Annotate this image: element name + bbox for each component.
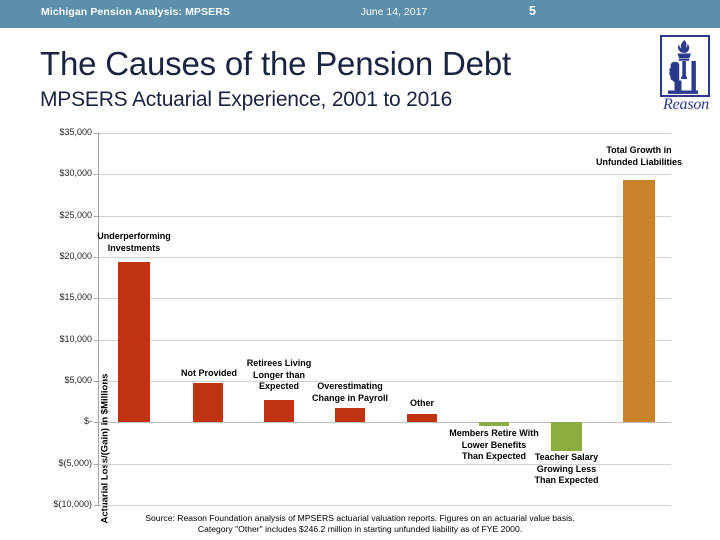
bar-label-line: Overestimating [294,381,406,393]
gridline [99,340,671,341]
y-axis-tick-label: $10,000 [32,334,92,344]
y-axis-tick-label: $(5,000) [32,458,92,468]
bar-teacher-salary-growing-less [551,422,582,451]
y-axis-tick [94,257,99,258]
bar-not-provided [193,383,223,422]
bar-label-other: Other [382,398,462,410]
y-axis-tick-label: $(10,000) [32,499,92,509]
y-axis-labels: $35,000$30,000$25,000$20,000$15,000$10,0… [30,133,92,505]
y-axis-tick [94,133,99,134]
y-axis-tick [94,174,99,175]
y-axis-tick-label: $25,000 [32,210,92,220]
bar-label-line: Other [382,398,462,410]
bar-total-growth-unfunded-liabilities [623,180,655,422]
page-subtitle: MPSERS Actuarial Experience, 2001 to 201… [40,88,452,112]
header-page-number: 5 [529,4,536,18]
source-line-2: Category "Other" includes $246.2 million… [0,524,720,535]
y-axis-tick [94,505,99,506]
reason-wordmark: Reason [658,96,714,114]
bar-label-line: Than Expected [519,475,614,487]
y-axis-tick [94,340,99,341]
bar-underperforming-investments [118,262,150,422]
y-axis-tick [94,422,99,423]
bar-label-line: Lower Benefits [433,440,555,452]
bar-label-line: Underperforming [79,231,189,243]
bar-retirees-living-longer [264,400,294,422]
y-axis-tick [94,216,99,217]
bar-other [407,414,437,422]
page-title: The Causes of the Pension Debt [40,45,511,83]
gridline [99,505,671,506]
bar-label-line: Growing Less [519,464,614,476]
y-axis-tick-label: $- [32,416,92,426]
y-axis-tick [94,381,99,382]
bar-label-teacher-salary-growing-less: Teacher SalaryGrowing LessThan Expected [519,452,614,487]
bar-overestimating-change-in-payroll [335,408,365,422]
bar-label-underperforming-investments: UnderperformingInvestments [79,231,189,254]
y-axis-tick-label: $30,000 [32,168,92,178]
bar-label-line: Members Retire With [433,428,555,440]
gridline [99,133,671,134]
bar-label-line: Retirees Living [233,358,325,370]
bar-label-line: Investments [79,243,189,255]
bar-label-line: Unfunded Liabilities [578,157,700,169]
source-footnote: Source: Reason Foundation analysis of MP… [0,513,720,535]
slide-header-bar: Michigan Pension Analysis: MPSERS June 1… [0,0,720,28]
bar-label-total-growth-unfunded-liabilities: Total Growth inUnfunded Liabilities [578,145,700,168]
y-axis-tick-label: $5,000 [32,375,92,385]
gridline [99,174,671,175]
gridline [99,216,671,217]
bar-members-retire-lower-benefits [479,422,509,426]
y-axis-title: Actuarial Loss/(Gain) in $Millions [100,229,111,540]
header-date: June 14, 2017 [361,6,428,18]
gridline [99,422,671,423]
y-axis-tick [94,298,99,299]
bar-label-line: Teacher Salary [519,452,614,464]
reason-logo: Reason [658,35,714,119]
chart-plot-area: Actuarial Loss/(Gain) in $Millions Under… [98,133,670,505]
source-line-1: Source: Reason Foundation analysis of MP… [0,513,720,524]
y-axis-tick [94,464,99,465]
y-axis-tick-label: $15,000 [32,292,92,302]
slide-canvas: Michigan Pension Analysis: MPSERS June 1… [0,0,720,540]
bar-label-line: Total Growth in [578,145,700,157]
reason-torch-icon [660,35,710,97]
gridline [99,298,671,299]
bar-label-line: Longer than [233,370,325,382]
gridline [99,257,671,258]
header-deck-title: Michigan Pension Analysis: MPSERS [41,6,230,18]
y-axis-tick-label: $35,000 [32,127,92,137]
